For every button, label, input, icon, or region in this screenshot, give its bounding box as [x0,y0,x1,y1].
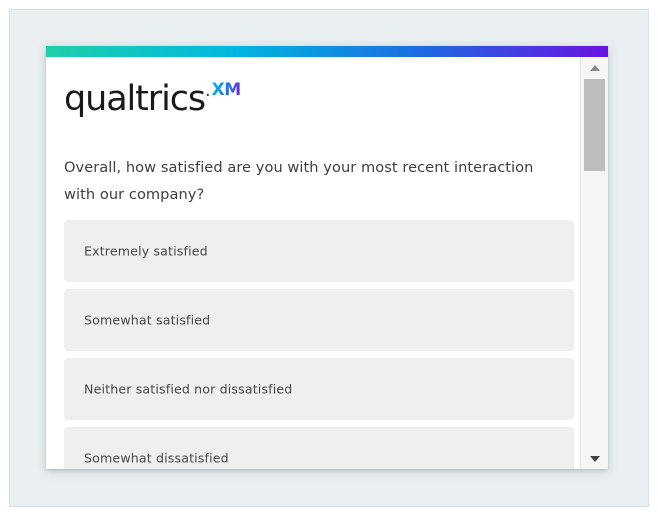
scrollbar-thumb[interactable] [584,79,605,171]
bottom-white-strip [0,512,658,522]
choice-list: Extremely satisfied Somewhat satisfied N… [64,220,574,469]
triangle-down-icon [590,456,600,462]
screenshot-viewport: qualtrics.XM Overall, how satisfied are … [0,0,658,522]
logo-wordmark: qualtrics [64,79,205,119]
logo-dot: . [205,79,211,101]
vertical-scrollbar[interactable] [580,57,608,469]
choice-option-somewhat-dissatisfied[interactable]: Somewhat dissatisfied [64,427,574,469]
choice-label: Neither satisfied nor dissatisfied [84,382,292,397]
survey-card-body: qualtrics.XM Overall, how satisfied are … [46,57,580,469]
choice-option-neither-satisfied-nor-dissatisfied[interactable]: Neither satisfied nor dissatisfied [64,358,574,420]
question-prompt: Overall, how satisfied are you with your… [64,154,558,208]
qualtrics-brand-gradient-bar [46,46,608,57]
choice-label: Somewhat satisfied [84,313,210,328]
qualtrics-logo: qualtrics.XM [64,79,241,123]
triangle-up-icon [590,65,600,71]
logo-xm-suffix: XM [212,80,241,100]
choice-option-extremely-satisfied[interactable]: Extremely satisfied [64,220,574,282]
choice-label: Extremely satisfied [84,244,208,259]
choice-option-somewhat-satisfied[interactable]: Somewhat satisfied [64,289,574,351]
choice-label: Somewhat dissatisfied [84,451,229,466]
survey-card: qualtrics.XM Overall, how satisfied are … [46,46,608,469]
scroll-up-button[interactable] [581,57,608,78]
scroll-down-button[interactable] [581,448,608,469]
